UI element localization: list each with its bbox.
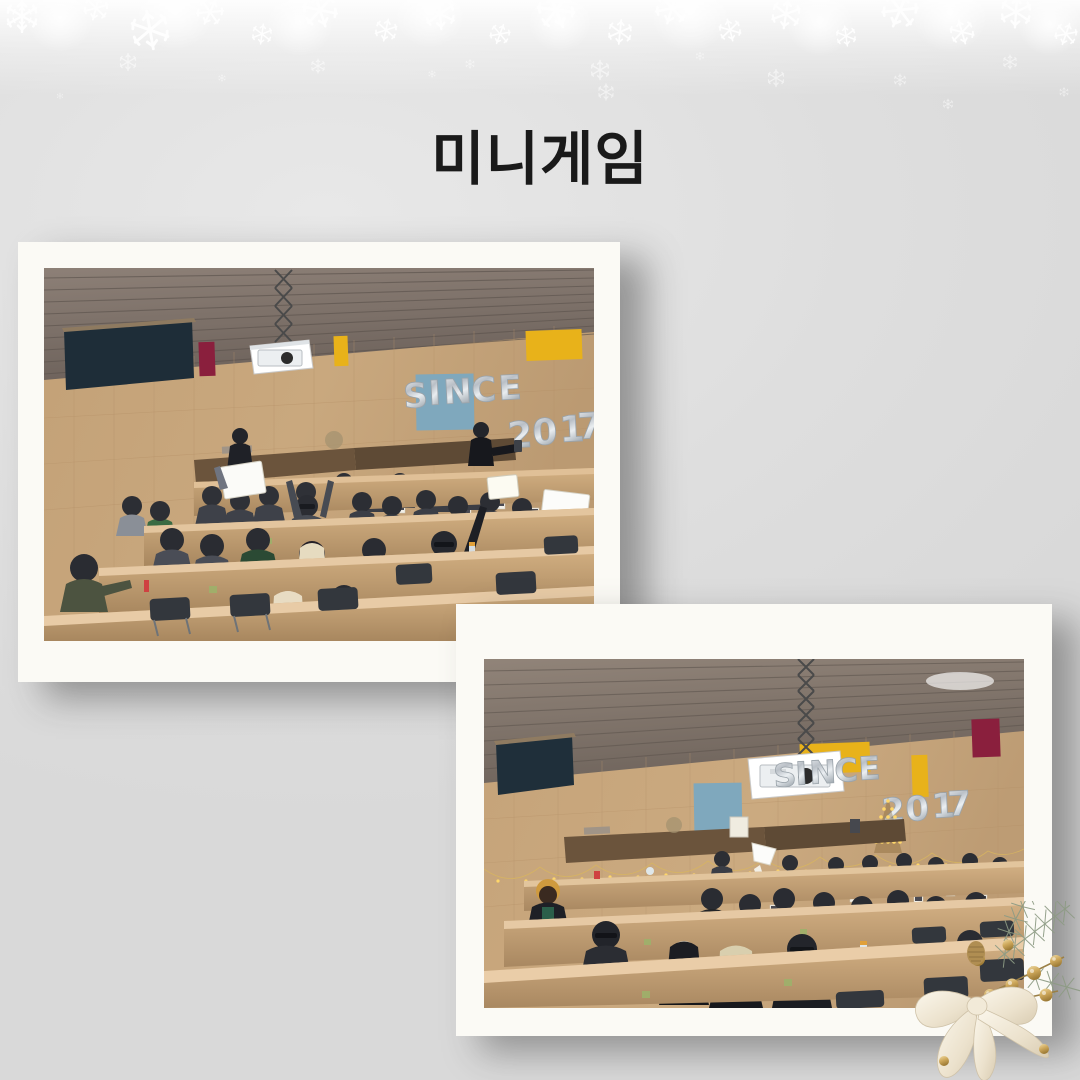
photo-lecture-hall-wide: S I N C E 2 0 1 7	[484, 659, 1024, 1008]
snowflake-banner-decoration	[0, 0, 1080, 120]
svg-text:S: S	[772, 756, 797, 795]
slide-canvas: 미니게임	[0, 0, 1080, 1080]
svg-text:E: E	[857, 749, 881, 788]
svg-text:S: S	[402, 376, 429, 417]
photo-lecture-hall-raising-hands: S I N C E 2 0 1 7	[44, 268, 594, 641]
svg-text:C: C	[470, 370, 497, 411]
svg-text:7: 7	[576, 406, 594, 448]
svg-text:I: I	[427, 373, 442, 414]
svg-text:C: C	[833, 751, 858, 790]
photo-frame-2[interactable]: S I N C E 2 0 1 7	[456, 604, 1052, 1036]
svg-text:0: 0	[904, 789, 930, 830]
svg-text:E: E	[497, 368, 522, 409]
svg-text:7: 7	[946, 784, 972, 825]
svg-text:N: N	[442, 372, 473, 413]
page-title: 미니게임	[0, 112, 1080, 196]
svg-text:0: 0	[531, 412, 558, 454]
svg-text:I: I	[794, 754, 808, 793]
